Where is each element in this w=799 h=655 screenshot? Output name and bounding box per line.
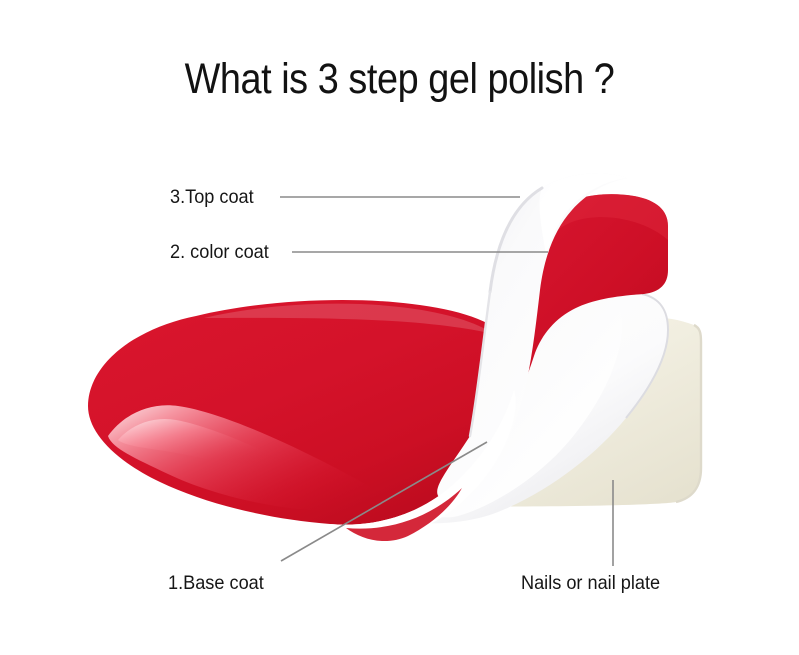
illustration-page: What is 3 step gel polish ?	[0, 0, 799, 655]
label-color-coat: 2. color coat	[170, 243, 269, 263]
label-base-coat: 1.Base coat	[168, 574, 264, 594]
label-nail-plate: Nails or nail plate	[521, 574, 660, 594]
label-top-coat: 3.Top coat	[170, 188, 254, 208]
gel-polish-diagram	[0, 0, 799, 655]
